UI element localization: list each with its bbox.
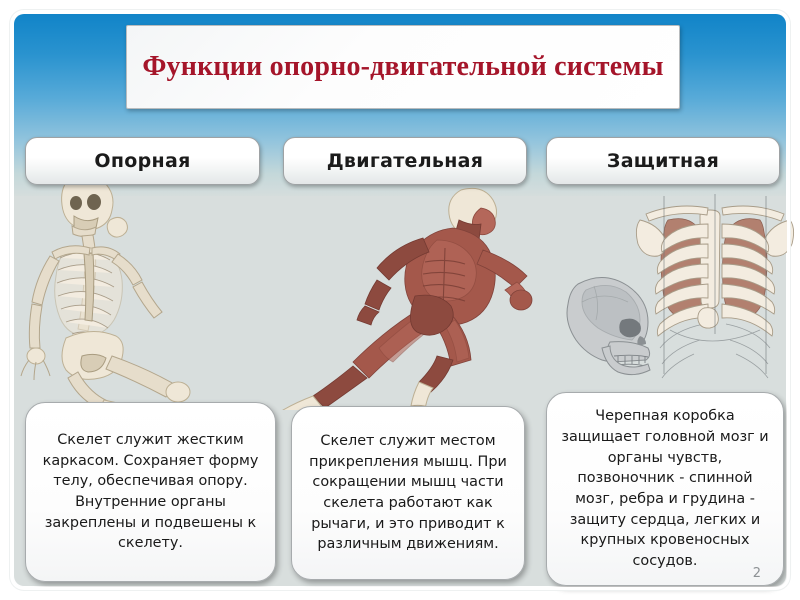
page-title: Функции опорно-двигательной системы — [128, 49, 677, 85]
description-text: Скелет служит жестким каркасом. Сохраняе… — [26, 424, 275, 560]
description-box-motor: Скелет служит местом прикрепления мышц. … — [291, 406, 525, 580]
running-muscular-figure-illustration — [255, 178, 540, 410]
skeleton-sitting-illustration — [8, 160, 258, 410]
ribcage-lungs-illustration — [630, 190, 800, 385]
slide-title-box: Функции опорно-двигательной системы — [126, 25, 680, 109]
column-header-label: Защитная — [607, 150, 719, 172]
description-box-protective: Черепная коробка защищает головной мозг … — [546, 392, 784, 586]
slide-canvas: Опорная Двигательная Защитная Функции оп… — [0, 0, 800, 600]
column-header-protective[interactable]: Защитная — [546, 137, 780, 185]
description-box-supportive: Скелет служит жестким каркасом. Сохраняе… — [25, 402, 276, 582]
column-header-motor[interactable]: Двигательная — [283, 137, 527, 185]
description-text: Черепная коробка защищает головной мозг … — [547, 400, 783, 578]
column-header-label: Опорная — [94, 150, 190, 172]
description-text: Скелет служит местом прикрепления мышц. … — [292, 425, 524, 561]
slide-number: 2 — [753, 566, 761, 581]
column-header-label: Двигательная — [327, 150, 484, 172]
column-header-supportive[interactable]: Опорная — [25, 137, 260, 185]
